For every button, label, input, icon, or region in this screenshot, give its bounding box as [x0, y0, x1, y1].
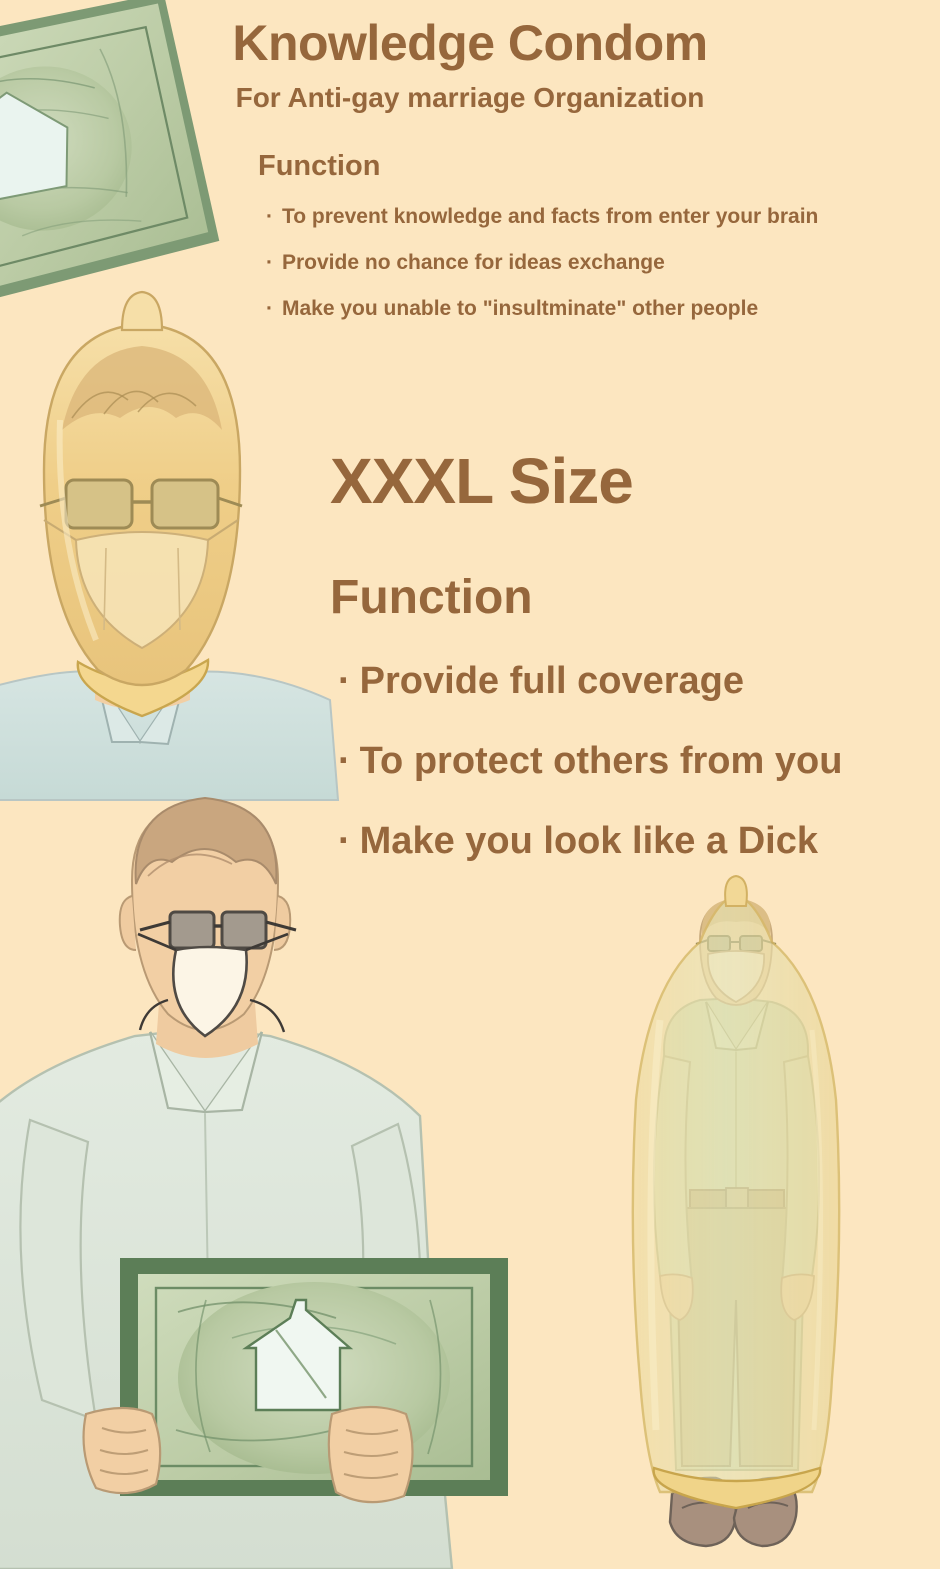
function-two-item: ·Make you look like a Dick: [338, 820, 818, 863]
function-one-item-label: To prevent knowledge and facts from ente…: [282, 205, 818, 228]
function-one-item: ·Make you unable to "insultminate" other…: [266, 297, 758, 321]
bullet-icon: ·: [338, 740, 351, 782]
condom-wrapper-held: [84, 1258, 508, 1502]
function-two-item: ·Provide full coverage: [338, 660, 744, 703]
function-one-item: ·Provide no chance for ideas exchange: [266, 251, 665, 275]
function-two-item: ·To protect others from you: [338, 740, 842, 783]
page-title: Knowledge Condom: [0, 14, 940, 72]
bullet-icon: ·: [266, 205, 273, 228]
hand-right: [329, 1407, 413, 1502]
size-title: XXXL Size: [330, 444, 633, 518]
figure-head-condom: [0, 292, 338, 800]
bullet-icon: ·: [338, 660, 351, 702]
hand-left: [84, 1408, 161, 1493]
function-one-item-label: Make you unable to "insultminate" other …: [282, 297, 758, 320]
function-heading-one: Function: [258, 150, 380, 183]
function-two-item-label: To protect others from you: [360, 740, 843, 782]
figure-full-body-condom: [633, 876, 839, 1546]
function-two-item-label: Make you look like a Dick: [360, 820, 818, 862]
function-one-item-label: Provide no chance for ideas exchange: [282, 251, 665, 274]
face-mask-figure2: [138, 934, 288, 1036]
poster-canvas: Knowledge Condom For Anti-gay marriage O…: [0, 0, 940, 1569]
function-one-item: ·To prevent knowledge and facts from ent…: [266, 205, 818, 229]
bullet-icon: ·: [338, 820, 351, 862]
glasses-icon-figure3: [696, 936, 776, 951]
page-subtitle: For Anti-gay marriage Organization: [0, 82, 940, 114]
face-mask-figure3: [708, 951, 764, 1002]
function-two-item-label: Provide full coverage: [360, 660, 744, 702]
glasses-icon-figure1: [40, 480, 242, 528]
function-heading-two: Function: [330, 570, 533, 625]
face-mask-figure1: [44, 520, 238, 648]
shoes: [670, 1478, 797, 1546]
bullet-icon: ·: [266, 297, 273, 320]
house-logo-large: [246, 1300, 350, 1410]
glasses-icon-figure2: [140, 912, 296, 948]
illustration-layer: [0, 0, 940, 1569]
figure-large-man: [0, 798, 508, 1569]
bullet-icon: ·: [266, 251, 273, 274]
